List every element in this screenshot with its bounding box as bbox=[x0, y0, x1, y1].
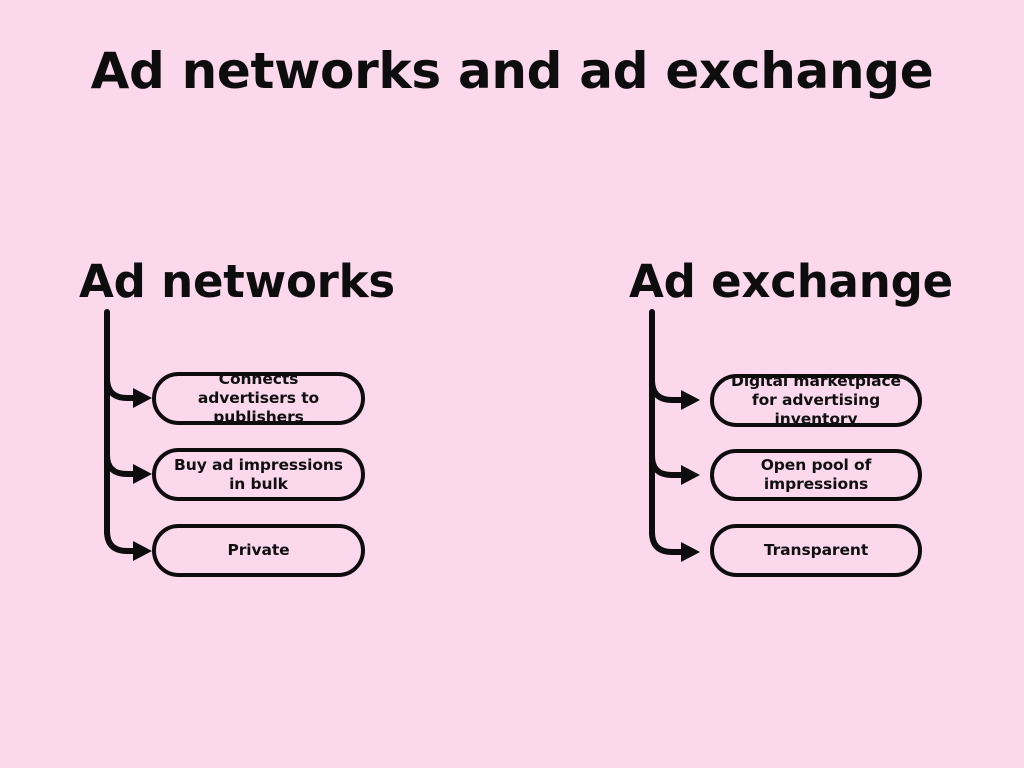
node-box[interactable]: Transparent bbox=[710, 524, 922, 577]
slide-canvas: Ad networks and ad exchange Ad networks … bbox=[0, 0, 1024, 768]
arrow-head-right-0 bbox=[681, 390, 700, 410]
branch-left-0 bbox=[107, 378, 137, 398]
node-label: Connects advertisers to publishers bbox=[172, 370, 345, 427]
branch-right-1 bbox=[652, 456, 684, 475]
branch-left-2 bbox=[107, 531, 137, 551]
node-label: Transparent bbox=[764, 541, 868, 560]
arrow-head-left-2 bbox=[133, 541, 152, 561]
arrow-head-right-2 bbox=[681, 542, 700, 562]
branch-left-1 bbox=[107, 455, 137, 474]
branch-right-2 bbox=[652, 532, 684, 552]
column-heading-ad-networks: Ad networks bbox=[79, 258, 395, 305]
arrow-head-left-1 bbox=[133, 464, 152, 484]
node-label: Private bbox=[227, 541, 289, 560]
arrow-head-right-1 bbox=[681, 465, 700, 485]
node-box[interactable]: Private bbox=[152, 524, 365, 577]
node-label: Digital marketplace for advertising inve… bbox=[730, 372, 902, 429]
node-box[interactable]: Open pool of impressions bbox=[710, 449, 922, 501]
node-box[interactable]: Connects advertisers to publishers bbox=[152, 372, 365, 425]
branch-right-0 bbox=[652, 380, 684, 400]
arrow-head-left-0 bbox=[133, 388, 152, 408]
node-label: Open pool of impressions bbox=[730, 456, 902, 494]
node-label: Buy ad impressions in bulk bbox=[172, 456, 345, 494]
page-title: Ad networks and ad exchange bbox=[0, 44, 1024, 98]
node-box[interactable]: Digital marketplace for advertising inve… bbox=[710, 374, 922, 427]
node-box[interactable]: Buy ad impressions in bulk bbox=[152, 448, 365, 501]
column-heading-ad-exchange: Ad exchange bbox=[629, 258, 953, 305]
